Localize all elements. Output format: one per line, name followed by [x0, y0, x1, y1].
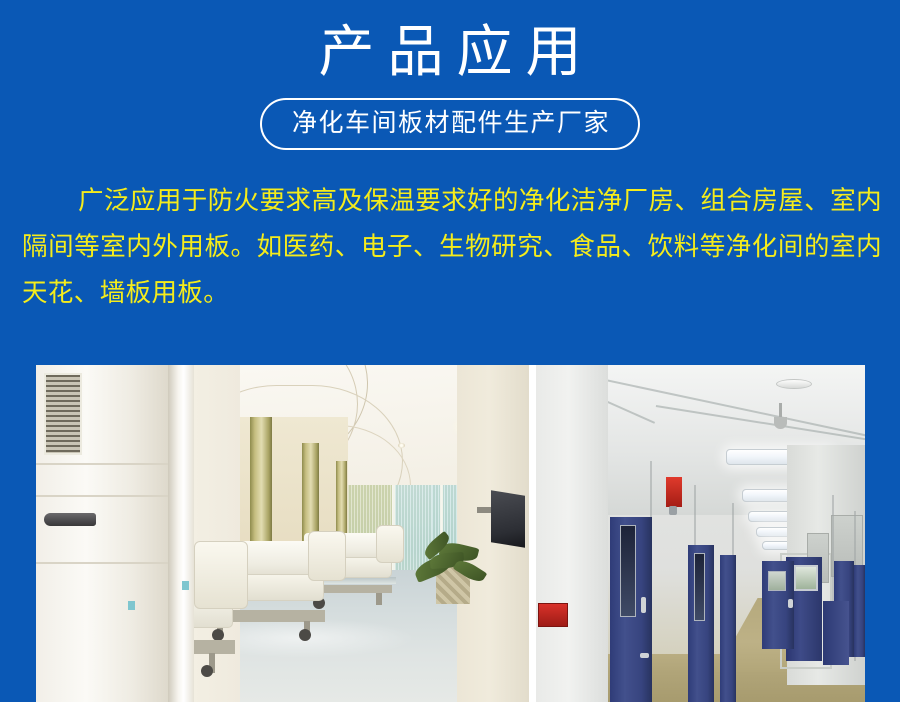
- page-header: 产品应用 净化车间板材配件生产厂家: [0, 0, 900, 150]
- door-window: [620, 525, 636, 617]
- fire-extinguisher-box: [538, 603, 568, 627]
- downlight: [398, 443, 405, 448]
- blue-door: [854, 565, 865, 657]
- door-window: [768, 571, 786, 591]
- door-handle: [788, 599, 793, 608]
- door-seam: [36, 463, 168, 465]
- left-wall: [536, 365, 608, 702]
- door-seam: [36, 495, 168, 497]
- bed-headboard: [376, 525, 404, 563]
- sprinkler-head: [774, 417, 787, 429]
- bed-headboard: [308, 531, 346, 581]
- white-door: [36, 365, 168, 702]
- door-seam: [36, 562, 168, 564]
- cleanroom-corridor-photo: [536, 365, 865, 702]
- description-paragraph-text: 广泛应用于防火要求高及保温要求好的净化洁净厂房、组合房屋、室内隔间等室内外用板。…: [22, 186, 882, 308]
- door-handle: [640, 653, 649, 658]
- wall-tv: [491, 490, 525, 547]
- cleanroom-corridor-illustration: [536, 365, 865, 702]
- door-vent-grille: [44, 373, 82, 455]
- description-paragraph: 广泛应用于防火要求高及保温要求好的净化洁净厂房、组合房屋、室内隔间等室内外用板。…: [22, 178, 882, 316]
- bottom-spacer: [0, 702, 900, 708]
- bed-tag: [128, 601, 135, 610]
- door-window: [794, 565, 818, 591]
- fire-alarm-icon: [666, 477, 682, 507]
- door-jamb: [168, 365, 194, 702]
- bed-headboard: [194, 541, 248, 609]
- door-handle: [44, 513, 96, 526]
- door-handle: [641, 597, 646, 613]
- subtitle-badge: 净化车间板材配件生产厂家: [260, 98, 640, 150]
- bed-tag: [182, 581, 189, 590]
- hospital-room-illustration: [36, 365, 529, 702]
- badge-container: 净化车间板材配件生产厂家: [0, 98, 900, 150]
- photo-gallery: [36, 365, 865, 702]
- description-text: 广泛应用于防火要求高及保温要求好的净化洁净厂房、组合房屋、室内隔间等室内外用板。…: [22, 178, 882, 316]
- ceiling-vent: [776, 379, 812, 389]
- bed-leg: [376, 593, 382, 605]
- page-title: 产品应用: [0, 22, 900, 84]
- door-window: [694, 553, 705, 621]
- blue-door: [720, 555, 736, 702]
- photo-divider: [529, 365, 536, 702]
- hospital-room-photo: [36, 365, 529, 702]
- tv-mount-arm: [477, 507, 491, 513]
- blue-door: [823, 601, 849, 665]
- bed-wheel: [201, 665, 213, 677]
